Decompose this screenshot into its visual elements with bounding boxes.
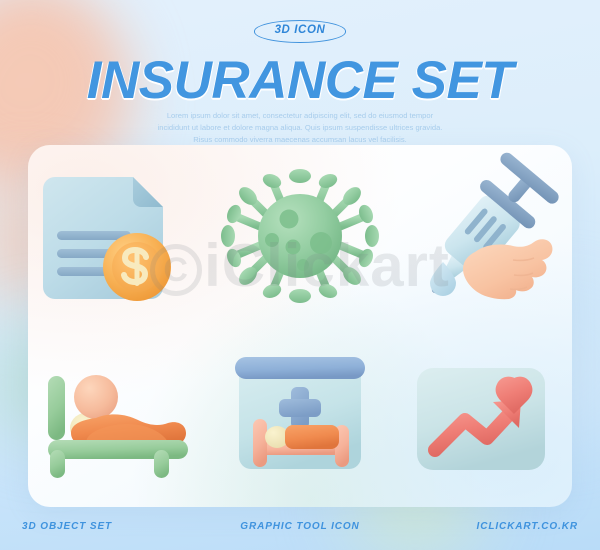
page-subtitle: Lorem ipsum dolor sit amet, consectetur … [150, 110, 450, 145]
icon-cell-virus[interactable] [209, 145, 390, 326]
dollar-coin [103, 233, 171, 301]
icon-cell-insurance-document[interactable] [28, 145, 209, 326]
icon-grid [28, 145, 572, 507]
hospital-roof [235, 357, 365, 379]
virus-icon [225, 161, 375, 311]
bed-leg [50, 450, 65, 478]
health-growth-chart-icon [409, 352, 554, 482]
patient-in-bed-icon [36, 352, 201, 482]
page-title: INSURANCE SET [0, 54, 600, 107]
icon-cell-health-chart[interactable] [391, 326, 572, 507]
icon-panel [28, 145, 572, 507]
footer-right-label: ICLICKART.CO.KR [477, 521, 578, 532]
bed-headboard [48, 376, 65, 440]
page-fold [133, 177, 163, 207]
icon-cell-hospital[interactable] [209, 326, 390, 507]
bed-leg [154, 450, 169, 478]
footer: 3D OBJECT SET GRAPHIC TOOL ICON ICLICKAR… [0, 516, 600, 536]
insurance-document-icon [39, 161, 199, 311]
syringe-hand-icon [401, 156, 561, 316]
patient-head [74, 375, 118, 419]
hospital-blanket [285, 425, 339, 449]
icon-cell-patient-in-bed[interactable] [28, 326, 209, 507]
hospital-bed-headboard [253, 419, 267, 467]
poster-canvas: 3D ICON INSURANCE SET Lorem ipsum dolor … [0, 0, 600, 550]
three-d-icon-badge: 3D ICON [254, 20, 347, 43]
hospital-bed-icon [225, 349, 375, 484]
icon-cell-syringe[interactable] [391, 145, 572, 326]
badge-container: 3D ICON [0, 20, 600, 43]
